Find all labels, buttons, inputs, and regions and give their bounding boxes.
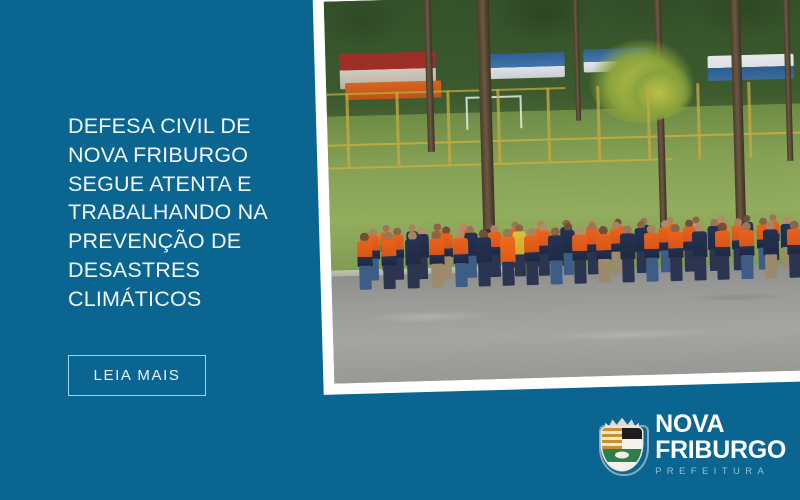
legs <box>717 256 730 280</box>
page-title: DEFESA CIVIL DE NOVA FRIBURGO SEGUE ATEN… <box>68 112 308 314</box>
person <box>450 230 472 289</box>
uniform-torso <box>524 236 540 262</box>
person <box>569 227 591 286</box>
legs <box>407 264 420 288</box>
uniform-torso <box>620 233 636 259</box>
uniform-torso <box>715 231 731 257</box>
person <box>617 225 639 284</box>
legs <box>550 260 563 284</box>
uniform-torso <box>691 231 707 257</box>
logo-line-friburgo: FRIBURGO <box>655 438 786 463</box>
uniform-torso <box>763 229 779 255</box>
legs <box>694 256 707 280</box>
uniform-torso <box>381 240 397 266</box>
blue-bus-1 <box>488 52 565 79</box>
person <box>593 226 615 285</box>
person <box>521 228 543 287</box>
legs <box>670 257 683 281</box>
person <box>689 223 711 282</box>
person <box>402 231 424 290</box>
legs <box>502 262 515 286</box>
logo-line-prefeitura: PREFEITURA <box>655 467 786 477</box>
uniform-torso <box>476 237 492 263</box>
person <box>545 227 567 286</box>
person <box>474 229 496 288</box>
person <box>784 221 800 280</box>
person <box>712 223 734 282</box>
uniform-torso <box>500 237 516 263</box>
uniform-torso <box>596 234 612 260</box>
legs <box>526 261 539 285</box>
person <box>641 225 663 284</box>
legs <box>431 264 444 288</box>
crowd-of-agents <box>329 164 800 307</box>
person <box>497 229 519 288</box>
uniform-torso <box>572 235 588 261</box>
news-banner: DEFESA CIVIL DE NOVA FRIBURGO SEGUE ATEN… <box>0 0 800 500</box>
logo-line-nova: NOVA <box>655 412 786 437</box>
legs <box>646 258 659 282</box>
legs <box>741 255 754 279</box>
person <box>736 222 758 281</box>
photo-card <box>312 0 800 395</box>
person <box>354 233 376 292</box>
uniform-torso <box>787 229 800 255</box>
uniform-torso <box>357 241 373 267</box>
person <box>378 232 400 291</box>
legs <box>455 263 468 287</box>
uniform-torso <box>452 238 468 264</box>
uniform-torso <box>548 235 564 261</box>
uniform-torso <box>739 230 755 256</box>
person <box>426 231 448 290</box>
uniform-torso <box>405 239 421 265</box>
legs <box>789 254 800 278</box>
soccer-goal <box>465 96 522 130</box>
blue-bus-3 <box>708 54 795 81</box>
legs <box>622 258 635 282</box>
uniform-torso <box>667 232 683 258</box>
shield-outline <box>599 425 649 476</box>
logo-wordmark: NOVA FRIBURGO PREFEITURA <box>655 412 786 477</box>
legs <box>359 266 372 290</box>
legs <box>574 260 587 284</box>
group-photo <box>324 0 800 384</box>
person <box>760 221 782 280</box>
legs <box>598 259 611 283</box>
legs <box>383 265 396 289</box>
uniform-torso <box>644 233 660 259</box>
read-more-button[interactable]: LEIA MAIS <box>68 355 206 396</box>
person <box>665 224 687 283</box>
legs <box>479 262 492 286</box>
prefeitura-logo[interactable]: NOVA FRIBURGO PREFEITURA <box>598 412 786 477</box>
legs <box>765 254 778 278</box>
uniform-torso <box>429 239 445 265</box>
coat-of-arms-icon <box>598 416 646 472</box>
